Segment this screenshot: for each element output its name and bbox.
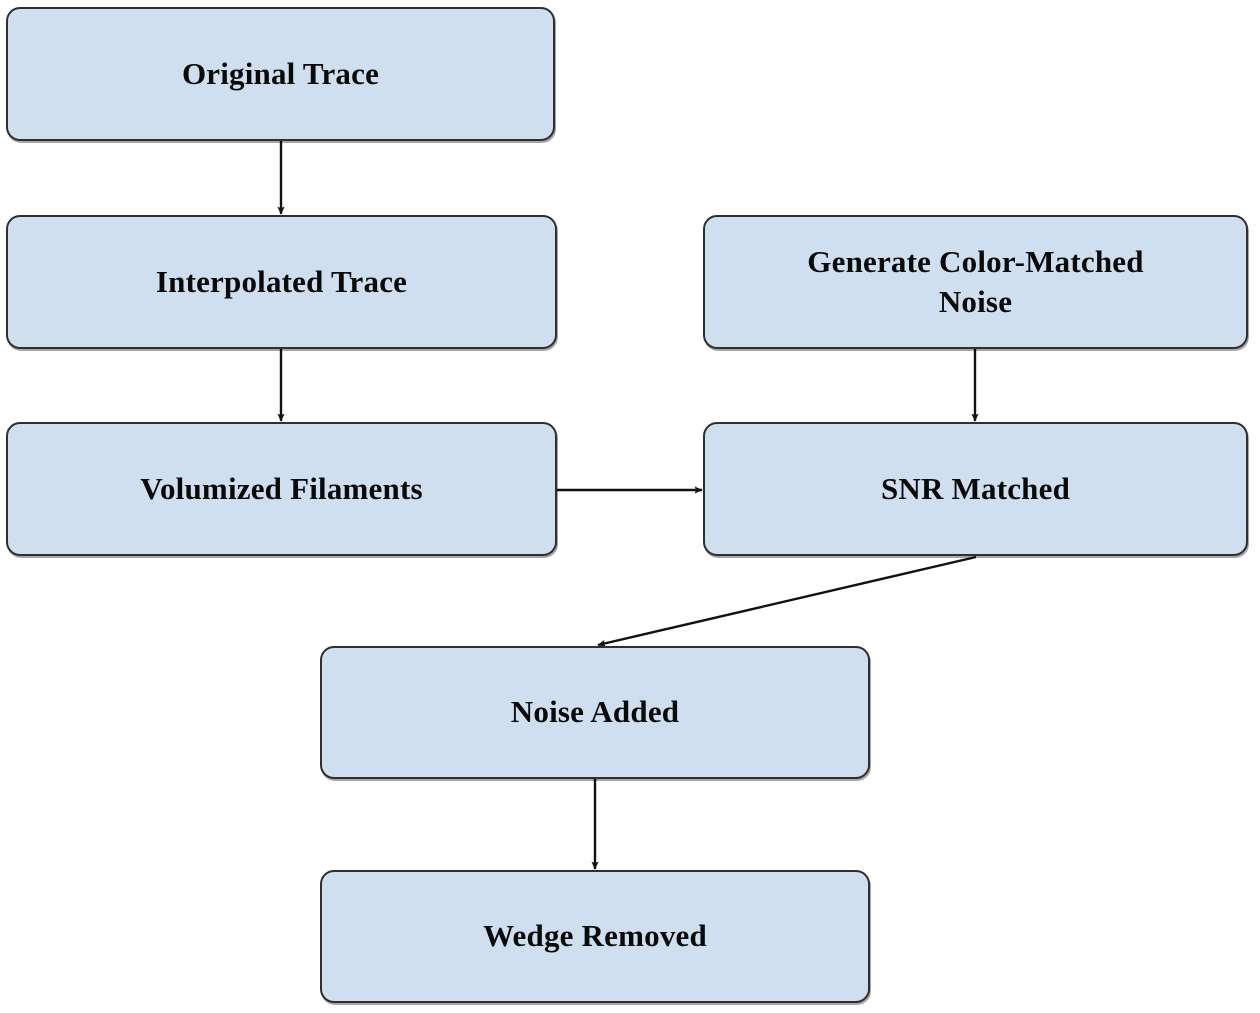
node-noise-added[interactable]: Noise Added (320, 646, 870, 779)
node-volumized-filaments[interactable]: Volumized Filaments (6, 422, 557, 556)
node-interpolated-trace[interactable]: Interpolated Trace (6, 215, 557, 349)
node-label-volumized-filaments: Volumized Filaments (126, 469, 437, 509)
node-original-trace[interactable]: Original Trace (6, 7, 555, 141)
node-label-noise-added: Noise Added (497, 692, 693, 732)
node-label-generate-color-matched-noise: Generate Color-Matched Noise (793, 242, 1157, 323)
node-label-original-trace: Original Trace (168, 54, 393, 94)
node-label-snr-matched: SNR Matched (867, 469, 1084, 509)
node-wedge-removed[interactable]: Wedge Removed (320, 870, 870, 1003)
node-label-interpolated-trace: Interpolated Trace (142, 262, 421, 302)
node-snr-matched[interactable]: SNR Matched (703, 422, 1248, 556)
node-label-wedge-removed: Wedge Removed (469, 916, 721, 956)
node-generate-color-matched-noise[interactable]: Generate Color-Matched Noise (703, 215, 1248, 349)
edge-snr-to-noise-added (598, 557, 976, 645)
flowchart-canvas: Original Trace Interpolated Trace Genera… (0, 0, 1260, 1013)
